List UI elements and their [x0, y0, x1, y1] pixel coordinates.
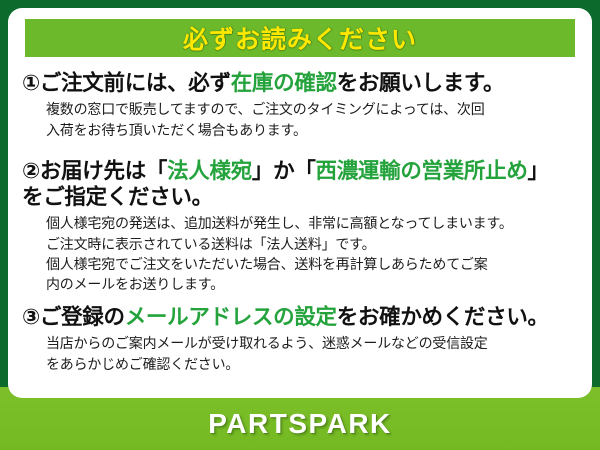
- section-2-body-line: 個人様宅宛の発送は、追加送料が発生し、非常に高額となってしまいます。: [46, 213, 582, 233]
- notice-panel: 必ずお読みください ①ご注文前には、必ず在庫の確認をお願いします。 複数の窓口で…: [8, 8, 592, 398]
- section-3-body-line: 当店からのご案内メールが受け取れるよう、迷惑メールなどの受信設定: [46, 333, 582, 353]
- section-1-body: 複数の窓口で販売してますので、ご注文のタイミングによっては、次回 入荷をお待ち頂…: [46, 99, 582, 140]
- section-3-marker: ③: [22, 305, 40, 329]
- notice-banner: 必ずお読みください: [25, 19, 575, 57]
- section-2-heading-pre: お届け先は「: [40, 159, 167, 183]
- section-2-heading-mid: 」か「: [252, 159, 316, 183]
- section-2-body-line: 個人様宅宛でご注文をいただいた場合、送料を再計算しあらためてご案: [46, 254, 582, 274]
- section-2-heading-highlight: 法人様宛: [167, 159, 252, 183]
- section-3-body-line: をあらかじめご確認ください。: [46, 354, 582, 374]
- section-2-heading-line2: をご指定ください。: [22, 184, 582, 210]
- brand-logo: PARTSPARK: [208, 408, 392, 440]
- section-2-body-line: 内のメールをお送りします。: [46, 274, 582, 294]
- section-2-heading-post: 」: [528, 159, 549, 183]
- section-1-heading-highlight: 在庫の確認: [231, 71, 337, 95]
- notice-frame: 必ずお読みください ①ご注文前には、必ず在庫の確認をお願いします。 複数の窓口で…: [0, 0, 600, 450]
- section-1-marker: ①: [22, 71, 40, 95]
- notice-section-1: ①ご注文前には、必ず在庫の確認をお願いします。 複数の窓口で販売してますので、ご…: [22, 70, 582, 140]
- section-1-heading-post: をお願いします。: [337, 71, 504, 95]
- section-3-heading-post: をお確かめください。: [337, 305, 549, 329]
- section-3-heading-pre: ご登録の: [40, 305, 125, 329]
- notice-section-3: ③ご登録のメールアドレスの設定をお確かめください。 当店からのご案内メールが受け…: [22, 304, 582, 374]
- section-3-body: 当店からのご案内メールが受け取れるよう、迷惑メールなどの受信設定 をあらかじめご…: [46, 333, 582, 374]
- section-1-heading: ①ご注文前には、必ず在庫の確認をお願いします。: [22, 70, 582, 96]
- section-3-heading: ③ご登録のメールアドレスの設定をお確かめください。: [22, 304, 582, 330]
- section-1-body-line: 複数の窓口で販売してますので、ご注文のタイミングによっては、次回: [46, 99, 582, 119]
- section-2-marker: ②: [22, 159, 40, 183]
- banner-title: 必ずお読みください: [183, 20, 417, 56]
- notice-section-2: ②お届け先は「法人様宛」か「西濃運輸の営業所止め」 をご指定ください。 個人様宅…: [22, 158, 582, 295]
- section-2-body: 個人様宅宛の発送は、追加送料が発生し、非常に高額となってしまいます。 ご注文時に…: [46, 213, 582, 294]
- section-1-body-line: 入荷をお待ち頂いただく場合もあります。: [46, 120, 582, 140]
- section-1-heading-pre: ご注文前には、必ず: [40, 71, 231, 95]
- section-2-body-line: ご注文時に表示されている送料は「法人送料」です。: [46, 234, 582, 254]
- section-2-heading-highlight-2: 西濃運輸の営業所止め: [316, 159, 528, 183]
- section-2-heading: ②お届け先は「法人様宛」か「西濃運輸の営業所止め」: [22, 158, 582, 184]
- notice-footer: PARTSPARK: [0, 398, 600, 450]
- section-3-heading-highlight: メールアドレスの設定: [125, 305, 337, 329]
